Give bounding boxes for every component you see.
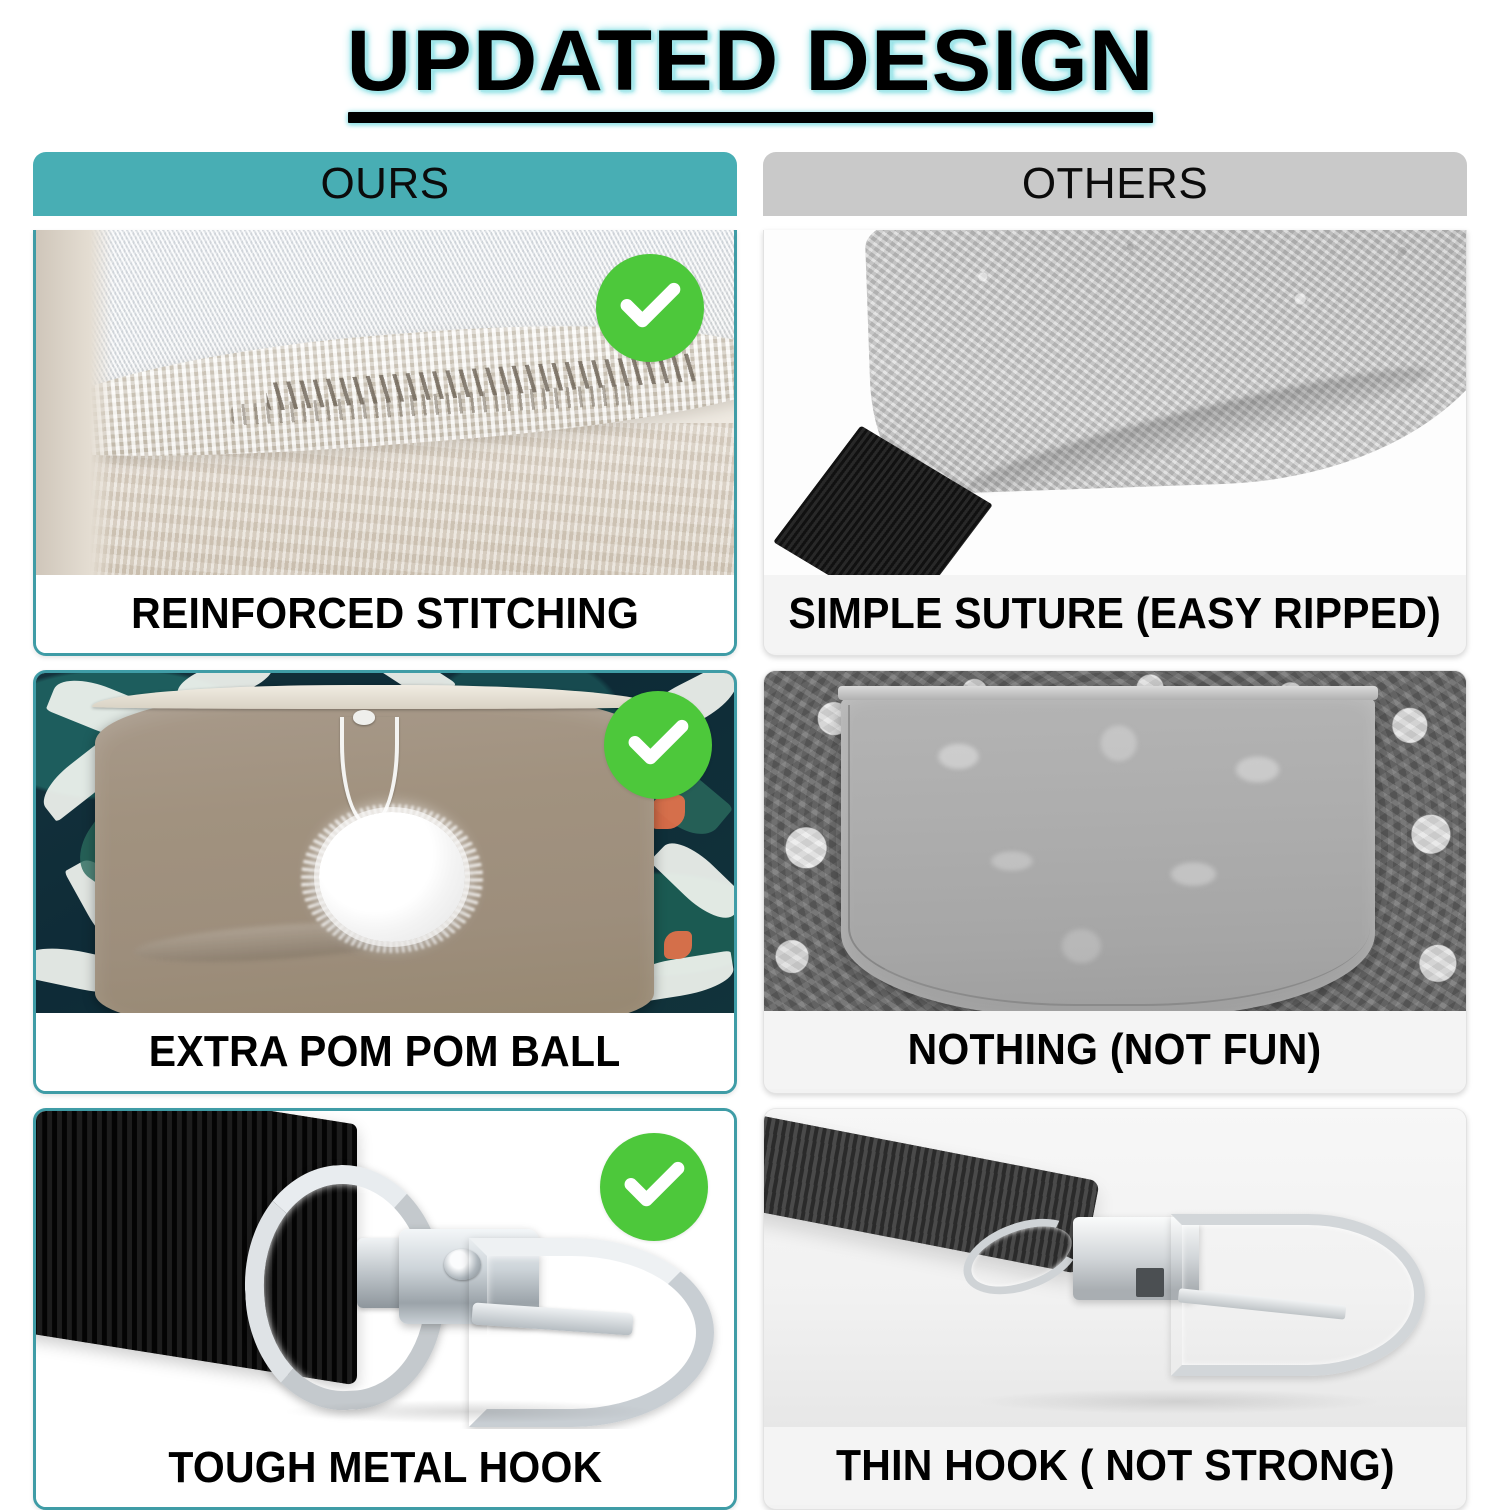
photo-layer-left-edge xyxy=(36,230,113,575)
column-header-others-label: OTHERS xyxy=(1022,159,1208,209)
photo-simple-suture xyxy=(764,230,1466,575)
photo-layer-hem xyxy=(838,686,1379,700)
photo-extra-pom-pom xyxy=(36,673,734,1013)
caption-text: REINFORCED STITCHING xyxy=(131,589,639,639)
column-header-ours-label: OURS xyxy=(320,159,449,209)
photo-layer-string-knot xyxy=(353,710,375,724)
caption-text: SIMPLE SUTURE (EASY RIPPED) xyxy=(789,589,1442,639)
card-ours-stitching: REINFORCED STITCHING xyxy=(33,230,737,656)
photo-layer-coral-accent xyxy=(664,931,692,958)
photo-nothing-not-fun xyxy=(764,671,1466,1011)
comparison-grid: OURS OTHERS REINFORCED STITCH xyxy=(33,152,1467,1510)
caption-ours-hook: TOUGH METAL HOOK xyxy=(36,1429,734,1507)
card-ours-pompom: EXTRA POM POM BALL xyxy=(33,670,737,1094)
check-circle-icon xyxy=(596,254,704,362)
photo-tough-metal-hook xyxy=(36,1111,734,1429)
caption-others-thin-hook: THIN HOOK ( NOT STRONG) xyxy=(764,1427,1466,1505)
photo-layer-ground-shadow xyxy=(975,1389,1382,1414)
caption-text: THIN HOOK ( NOT STRONG) xyxy=(836,1441,1395,1491)
photo-layer-notch xyxy=(1136,1268,1164,1297)
caption-text: TOUGH METAL HOOK xyxy=(168,1443,602,1493)
column-header-ours: OURS xyxy=(33,152,737,216)
check-circle-icon xyxy=(604,691,712,799)
caption-others-suture: SIMPLE SUTURE (EASY RIPPED) xyxy=(764,575,1466,653)
column-header-others: OTHERS xyxy=(763,152,1467,216)
photo-reinforced-stitching xyxy=(36,230,734,575)
infographic-page: UPDATED DESIGN OURS OTHERS xyxy=(0,0,1500,1500)
card-others-suture: SIMPLE SUTURE (EASY RIPPED) xyxy=(763,230,1467,656)
photo-layer-seam xyxy=(848,705,1369,1006)
caption-text: NOTHING (NOT FUN) xyxy=(908,1025,1322,1075)
caption-others-nothing: NOTHING (NOT FUN) xyxy=(764,1011,1466,1089)
check-circle-icon xyxy=(600,1133,708,1241)
page-title: UPDATED DESIGN xyxy=(346,14,1154,108)
caption-text: EXTRA POM POM BALL xyxy=(149,1027,621,1077)
caption-ours-pompom: EXTRA POM POM BALL xyxy=(36,1013,734,1091)
title-underline xyxy=(348,112,1153,123)
photo-thin-hook xyxy=(764,1109,1466,1427)
card-ours-hook: TOUGH METAL HOOK xyxy=(33,1108,737,1510)
title-block: UPDATED DESIGN xyxy=(0,14,1500,123)
card-others-nothing: NOTHING (NOT FUN) xyxy=(763,670,1467,1094)
caption-ours-stitching: REINFORCED STITCHING xyxy=(36,575,734,653)
photo-layer-ground-shadow xyxy=(287,1400,650,1422)
card-others-thin-hook: THIN HOOK ( NOT STRONG) xyxy=(763,1108,1467,1510)
photo-layer-pom-pom-ball xyxy=(319,812,466,941)
